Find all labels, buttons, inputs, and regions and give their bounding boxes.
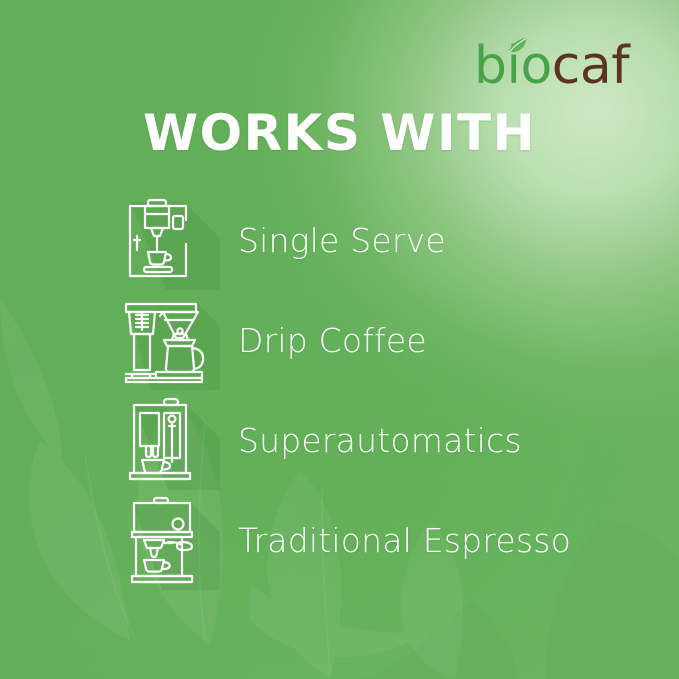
list-item-label: Drip Coffee [238, 321, 427, 360]
single-serve-machine-icon [120, 190, 220, 290]
list-item: Drip Coffee [0, 290, 679, 390]
list-item: Traditional Espresso [0, 490, 679, 590]
list-item: Single Serve [0, 190, 679, 290]
list-item-label: Traditional Espresso [238, 521, 571, 560]
list-item-label: Superautomatics [238, 421, 522, 460]
brand-logo-text: biocaf [474, 40, 629, 92]
espresso-machine-icon [120, 490, 220, 590]
brand-logo: biocaf [474, 34, 629, 92]
list-item-label: Single Serve [238, 221, 446, 260]
compatibility-list: Single Serve [0, 190, 679, 590]
leaf-icon [506, 35, 528, 55]
brand-logo-caf: caf [552, 36, 629, 96]
superautomatic-machine-icon [120, 390, 220, 490]
drip-coffee-maker-icon [120, 290, 220, 390]
list-item: Superautomatics [0, 390, 679, 490]
page-title: WORKS WITH [0, 108, 679, 158]
works-with-poster: biocaf WORKS WITH [0, 0, 679, 679]
